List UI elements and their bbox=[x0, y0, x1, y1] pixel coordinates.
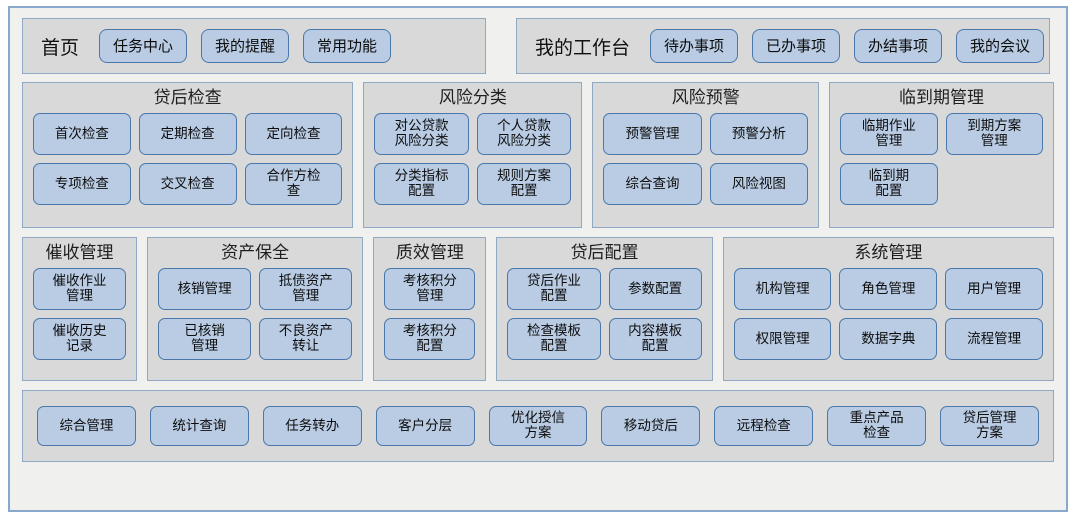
utility-button-post-loan-management-plan[interactable]: 贷后管理 方案 bbox=[940, 406, 1039, 446]
panel-quality-management: 质效管理 考核积分 管理 考核积分 配置 bbox=[373, 237, 486, 381]
panel-button-grid: 机构管理 角色管理 用户管理 权限管理 数据字典 流程管理 bbox=[724, 268, 1053, 380]
module-button-periodic-check[interactable]: 定期检查 bbox=[139, 113, 237, 155]
panel-button-grid: 贷后作业 配置 参数配置 检查模板 配置 内容模板 配置 bbox=[497, 268, 711, 380]
module-button-content-template-config[interactable]: 内容模板 配置 bbox=[609, 318, 702, 360]
home-label: 首页 bbox=[41, 33, 79, 60]
module-button-collection-task-management[interactable]: 催收作业 管理 bbox=[33, 268, 126, 310]
module-button-written-off-management[interactable]: 已核销 管理 bbox=[158, 318, 251, 360]
nav-button-completed-items[interactable]: 办结事项 bbox=[854, 29, 942, 63]
nav-button-todo-items[interactable]: 待办事项 bbox=[650, 29, 738, 63]
header-row: 首页 任务中心 我的提醒 常用功能 我的工作台 待办事项 已办事项 办结事项 我… bbox=[22, 18, 1054, 74]
module-button-warning-management[interactable]: 预警管理 bbox=[603, 113, 701, 155]
panel-title: 贷后检查 bbox=[23, 83, 352, 113]
panel-title: 风险分类 bbox=[364, 83, 581, 113]
panel-title: 催收管理 bbox=[23, 238, 136, 268]
panel-title: 临到期管理 bbox=[830, 83, 1053, 113]
module-button-organization-management[interactable]: 机构管理 bbox=[734, 268, 832, 310]
panel-button-grid: 首次检查 定期检查 定向检查 专项检查 交叉检查 合作方检 查 bbox=[23, 113, 352, 227]
panel-title: 资产保全 bbox=[148, 238, 362, 268]
nav-button-common-functions[interactable]: 常用功能 bbox=[303, 29, 391, 63]
workbench-panel: 我的工作台 待办事项 已办事项 办结事项 我的会议 bbox=[516, 18, 1050, 74]
module-row-2: 贷后检查 首次检查 定期检查 定向检查 专项检查 交叉检查 合作方检 查 风险分… bbox=[22, 82, 1054, 228]
utility-button-task-transfer[interactable]: 任务转办 bbox=[263, 406, 362, 446]
utility-button-customer-stratification[interactable]: 客户分层 bbox=[376, 406, 475, 446]
module-button-npl-transfer[interactable]: 不良资产 转让 bbox=[259, 318, 352, 360]
module-button-maturity-plan-management[interactable]: 到期方案 管理 bbox=[946, 113, 1043, 155]
module-button-partner-check[interactable]: 合作方检 查 bbox=[245, 163, 343, 205]
module-button-maturity-config[interactable]: 临到期 配置 bbox=[840, 163, 937, 205]
module-button-assessment-points-management[interactable]: 考核积分 管理 bbox=[384, 268, 475, 310]
panel-post-loan-check: 贷后检查 首次检查 定期检查 定向检查 专项检查 交叉检查 合作方检 查 bbox=[22, 82, 353, 228]
module-button-special-check[interactable]: 专项检查 bbox=[33, 163, 131, 205]
module-button-comprehensive-query[interactable]: 综合查询 bbox=[603, 163, 701, 205]
module-button-personal-loan-risk-class[interactable]: 个人贷款 风险分类 bbox=[477, 113, 571, 155]
panel-button-grid: 考核积分 管理 考核积分 配置 bbox=[374, 268, 485, 380]
workbench-label: 我的工作台 bbox=[535, 33, 630, 60]
utility-button-credit-optimization-plan[interactable]: 优化授信 方案 bbox=[489, 406, 588, 446]
module-button-role-management[interactable]: 角色管理 bbox=[839, 268, 937, 310]
panel-title: 风险预警 bbox=[593, 83, 818, 113]
module-button-user-management[interactable]: 用户管理 bbox=[945, 268, 1043, 310]
utility-button-remote-check[interactable]: 远程检查 bbox=[714, 406, 813, 446]
module-button-parameter-config[interactable]: 参数配置 bbox=[609, 268, 702, 310]
module-button-post-loan-task-config[interactable]: 贷后作业 配置 bbox=[507, 268, 600, 310]
nav-button-my-reminders[interactable]: 我的提醒 bbox=[201, 29, 289, 63]
module-button-assessment-points-config[interactable]: 考核积分 配置 bbox=[384, 318, 475, 360]
utility-row: 综合管理 统计查询 任务转办 客户分层 优化授信 方案 移动贷后 远程检查 重点… bbox=[22, 390, 1054, 462]
module-button-maturity-task-management[interactable]: 临期作业 管理 bbox=[840, 113, 937, 155]
panel-maturity-management: 临到期管理 临期作业 管理 到期方案 管理 临到期 配置 bbox=[829, 82, 1054, 228]
panel-button-grid: 催收作业 管理 催收历史 记录 bbox=[23, 268, 136, 380]
module-button-collection-history-record[interactable]: 催收历史 记录 bbox=[33, 318, 126, 360]
panel-button-grid: 预警管理 预警分析 综合查询 风险视图 bbox=[593, 113, 818, 227]
utility-button-mobile-post-loan[interactable]: 移动贷后 bbox=[601, 406, 700, 446]
nav-button-done-items[interactable]: 已办事项 bbox=[752, 29, 840, 63]
module-button-targeted-check[interactable]: 定向检查 bbox=[245, 113, 343, 155]
panel-risk-warning: 风险预警 预警管理 预警分析 综合查询 风险视图 bbox=[592, 82, 819, 228]
module-row-3: 催收管理 催收作业 管理 催收历史 记录 资产保全 核销管理 抵债资产 管理 已… bbox=[22, 237, 1054, 381]
nav-button-my-meetings[interactable]: 我的会议 bbox=[956, 29, 1044, 63]
panel-asset-preservation: 资产保全 核销管理 抵债资产 管理 已核销 管理 不良资产 转让 bbox=[147, 237, 363, 381]
utility-button-statistical-query[interactable]: 统计查询 bbox=[150, 406, 249, 446]
module-button-writeoff-management[interactable]: 核销管理 bbox=[158, 268, 251, 310]
panel-button-grid: 核销管理 抵债资产 管理 已核销 管理 不良资产 转让 bbox=[148, 268, 362, 380]
panel-title: 质效管理 bbox=[374, 238, 485, 268]
nav-button-task-center[interactable]: 任务中心 bbox=[99, 29, 187, 63]
module-button-data-dictionary[interactable]: 数据字典 bbox=[839, 318, 937, 360]
panel-post-loan-config: 贷后配置 贷后作业 配置 参数配置 检查模板 配置 内容模板 配置 bbox=[496, 237, 712, 381]
module-button-check-template-config[interactable]: 检查模板 配置 bbox=[507, 318, 600, 360]
utility-button-comprehensive-management[interactable]: 综合管理 bbox=[37, 406, 136, 446]
module-button-warning-analysis[interactable]: 预警分析 bbox=[710, 113, 808, 155]
module-button-first-check[interactable]: 首次检查 bbox=[33, 113, 131, 155]
panel-title: 贷后配置 bbox=[497, 238, 711, 268]
panel-collection-management: 催收管理 催收作业 管理 催收历史 记录 bbox=[22, 237, 137, 381]
panel-title: 系统管理 bbox=[724, 238, 1053, 268]
module-button-process-management[interactable]: 流程管理 bbox=[945, 318, 1043, 360]
module-button-permission-management[interactable]: 权限管理 bbox=[734, 318, 832, 360]
application-frame: 首页 任务中心 我的提醒 常用功能 我的工作台 待办事项 已办事项 办结事项 我… bbox=[8, 6, 1068, 512]
panel-risk-classification: 风险分类 对公贷款 风险分类 个人贷款 风险分类 分类指标 配置 规则方案 配置 bbox=[363, 82, 582, 228]
module-button-cross-check[interactable]: 交叉检查 bbox=[139, 163, 237, 205]
home-panel: 首页 任务中心 我的提醒 常用功能 bbox=[22, 18, 486, 74]
panel-button-grid: 对公贷款 风险分类 个人贷款 风险分类 分类指标 配置 规则方案 配置 bbox=[364, 113, 581, 227]
module-button-debt-asset-management[interactable]: 抵债资产 管理 bbox=[259, 268, 352, 310]
module-button-risk-view[interactable]: 风险视图 bbox=[710, 163, 808, 205]
module-button-rule-plan-config[interactable]: 规则方案 配置 bbox=[477, 163, 571, 205]
utility-button-key-product-check[interactable]: 重点产品 检查 bbox=[827, 406, 926, 446]
module-button-classification-index-config[interactable]: 分类指标 配置 bbox=[374, 163, 468, 205]
panel-system-management: 系统管理 机构管理 角色管理 用户管理 权限管理 数据字典 流程管理 bbox=[723, 237, 1054, 381]
panel-button-grid: 临期作业 管理 到期方案 管理 临到期 配置 bbox=[830, 113, 1053, 227]
module-button-corporate-loan-risk-class[interactable]: 对公贷款 风险分类 bbox=[374, 113, 468, 155]
